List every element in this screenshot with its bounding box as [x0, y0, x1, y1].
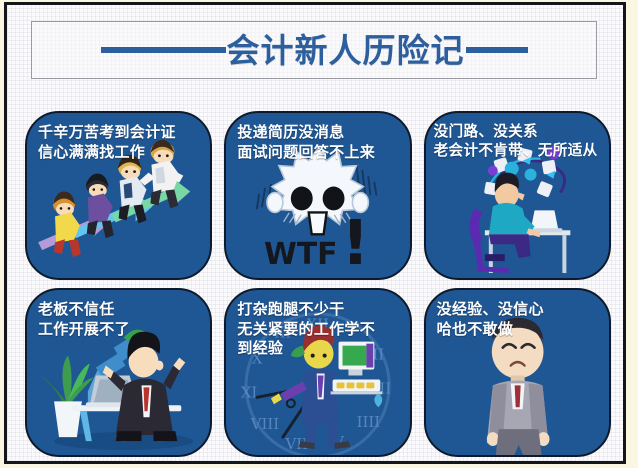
- page-title: 会计新人历险记: [226, 34, 466, 67]
- wtf-label: WTF: [264, 237, 338, 272]
- comic-panel-1[interactable]: 千辛万苦考到会计证 信心满满找工作: [25, 111, 212, 280]
- comic-panel-6-caption: 没经验、没信心 哈也不敢做: [437, 300, 605, 339]
- comic-panel-3[interactable]: 没门路、没关系 老会计不肯带、无所适从: [424, 111, 611, 280]
- comic-panel-3-caption: 没门路、没关系 老会计不肯带、无所适从: [434, 123, 605, 161]
- comic-panel-2[interactable]: WTF ! 投递简历没消息 面试问题回答不上来: [224, 111, 411, 280]
- svg-text:XI: XI: [241, 383, 258, 401]
- comic-panel-1-caption: 千辛万苦考到会计证 信心满满找工作: [38, 123, 206, 162]
- comic-panel-4-caption: 老板不信任 工作开展不了: [38, 300, 206, 339]
- svg-text:IIII: IIII: [357, 413, 381, 431]
- comic-panel-5[interactable]: XII XI X XI VIII VII V IIII III II I: [224, 288, 411, 457]
- comic-panel-4[interactable]: 老板不信任 工作开展不了: [25, 288, 212, 457]
- comic-panel-5-caption: 打杂跑腿不少干 无关紧要的工作学不 到经验: [237, 300, 405, 359]
- title-rule-left-icon: [101, 47, 226, 53]
- comic-panel-2-caption: 投递简历没消息 面试问题回答不上来: [237, 123, 405, 162]
- comic-panel-6[interactable]: 没经验、没信心 哈也不敢做: [424, 288, 611, 457]
- title-banner: 会计新人历险记: [31, 21, 597, 79]
- title-rule-right-icon: [466, 47, 528, 53]
- panel-grid: 千辛万苦考到会计证 信心满满找工作: [25, 111, 611, 457]
- poster-frame: 会计新人历险记: [4, 2, 626, 464]
- svg-text:VIII: VIII: [250, 415, 280, 433]
- exclamation-mark-icon: !: [342, 207, 370, 278]
